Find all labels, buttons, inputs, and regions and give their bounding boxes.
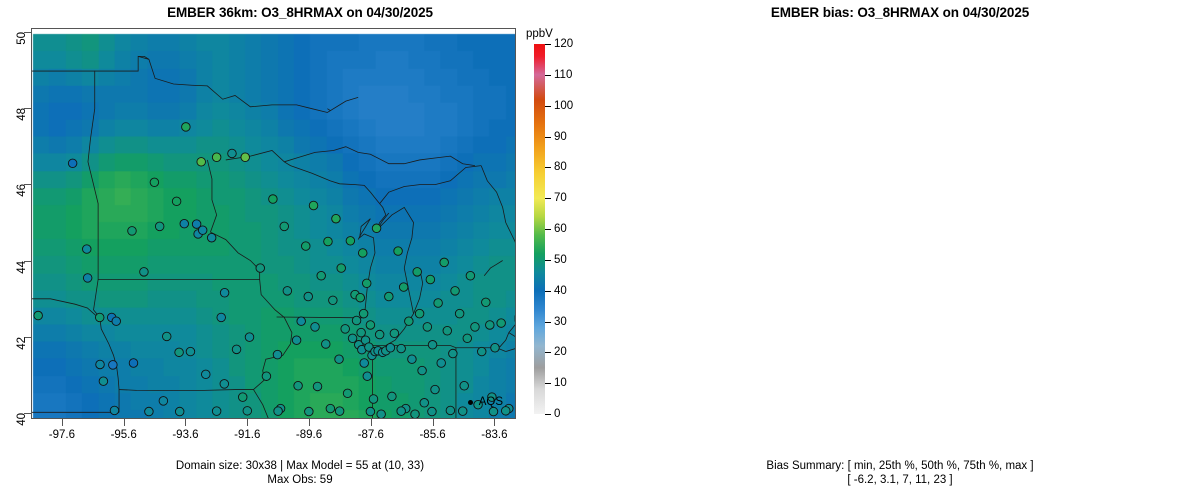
station-marker[interactable] [324,237,333,246]
station-marker[interactable] [243,407,252,416]
x-axis-tick [309,419,310,426]
station-marker[interactable] [201,370,210,379]
station-marker[interactable] [186,347,195,356]
station-marker[interactable] [497,319,506,328]
model-colorbar-strip [534,44,545,414]
station-marker[interactable] [34,311,43,320]
colorbar-tick [545,229,551,230]
station-marker[interactable] [375,330,384,339]
y-axis-tick-label: 48 [16,108,28,121]
station-marker[interactable] [220,288,229,297]
station-marker[interactable] [95,313,104,322]
station-marker[interactable] [212,153,221,162]
station-marker[interactable] [431,385,440,394]
station-marker[interactable] [437,359,446,368]
station-marker[interactable] [292,336,301,345]
x-axis-tick-label: -91.6 [234,429,260,441]
station-marker[interactable] [212,407,221,416]
x-axis-tick-label: -87.6 [358,429,384,441]
station-marker[interactable] [377,410,386,418]
station-marker[interactable] [140,268,149,277]
station-marker[interactable] [182,123,191,132]
model-x-axis: -97.6-95.6-93.6-91.6-89.6-87.6-85.6-83.6 [31,419,516,449]
x-axis-tick-label: -89.6 [296,429,322,441]
x-axis-tick [371,419,372,426]
bias-caption: Bias Summary: [ min, 25th %, 50th %, 75t… [600,459,1200,487]
model-station-points[interactable] [32,29,515,418]
station-marker[interactable] [232,345,241,354]
station-marker[interactable] [175,348,184,357]
station-marker[interactable] [269,195,278,204]
colorbar-tick-label: 100 [554,100,573,112]
colorbar-tick-label: 50 [554,254,567,266]
station-marker[interactable] [413,268,422,277]
station-marker[interactable] [359,309,368,318]
station-marker[interactable] [423,323,432,332]
x-axis-tick-label: -95.6 [111,429,137,441]
station-marker[interactable] [220,380,229,389]
station-marker[interactable] [385,292,394,301]
station-marker[interactable] [83,274,92,283]
y-axis-tick-label: 46 [16,184,28,197]
station-marker[interactable] [458,407,467,416]
station-marker[interactable] [477,347,486,356]
station-marker[interactable] [455,309,464,318]
colorbar-tick [545,383,551,384]
station-marker[interactable] [405,317,414,326]
model-caption-line2: Max Obs: 59 [0,473,600,487]
colorbar-tick-label: 90 [554,131,567,143]
station-marker[interactable] [283,287,292,296]
colorbar-tick [545,260,551,261]
colorbar-tick [545,137,551,138]
station-marker[interactable] [446,406,455,415]
station-marker[interactable] [262,372,271,381]
station-marker[interactable] [332,214,341,223]
colorbar-tick-label: 110 [554,69,572,81]
panel-bias: EMBER bias: O3_8HRMAX on 04/30/2025 AQS … [600,0,1200,502]
station-marker[interactable] [294,381,303,390]
colorbar-tick [545,167,551,168]
station-marker[interactable] [241,153,250,162]
station-marker[interactable] [363,372,372,381]
station-marker[interactable] [451,287,460,296]
station-marker[interactable] [489,407,498,416]
x-axis-tick-label: -85.6 [419,429,445,441]
station-marker[interactable] [366,407,375,416]
station-marker[interactable] [145,407,154,416]
station-marker[interactable] [428,407,437,416]
y-axis-tick-label: 40 [16,413,28,426]
model-caption-line1: Domain size: 30x38 | Max Model = 55 at (… [0,459,600,473]
station-marker[interactable] [357,328,366,337]
station-marker[interactable] [228,149,237,158]
station-marker[interactable] [245,333,254,342]
station-marker[interactable] [471,323,480,332]
colorbar-tick [545,352,551,353]
station-marker[interactable] [180,219,189,228]
colorbar-tick [545,322,551,323]
colorbar-tick-label: 10 [554,377,567,389]
station-marker[interactable] [317,271,326,280]
aqs-dot-icon [468,400,473,405]
station-marker[interactable] [238,393,247,402]
station-marker[interactable] [369,395,378,404]
station-marker[interactable] [360,359,369,368]
bias-caption-line1: Bias Summary: [ min, 25th %, 50th %, 75t… [600,459,1200,473]
station-marker[interactable] [460,381,469,390]
x-axis-tick [494,419,495,426]
station-marker[interactable] [411,410,420,418]
station-marker[interactable] [346,237,355,246]
model-aqs-legend: AQS [468,396,503,408]
station-marker[interactable] [399,283,408,292]
model-plot-area[interactable]: AQS [31,28,516,419]
y-axis-tick-label: 44 [16,261,28,274]
station-marker[interactable] [343,389,352,398]
station-marker[interactable] [491,343,500,352]
x-axis-tick [62,419,63,426]
station-marker[interactable] [96,360,105,369]
station-marker[interactable] [311,323,320,332]
colorbar-tick-label: 80 [554,161,567,173]
station-marker[interactable] [337,264,346,273]
station-marker[interactable] [418,366,427,375]
colorbar-tick [545,291,551,292]
station-marker[interactable] [128,227,137,236]
station-marker[interactable] [112,317,121,326]
station-marker[interactable] [197,158,206,167]
station-marker[interactable] [129,359,138,368]
station-marker[interactable] [155,222,164,231]
station-marker[interactable] [110,406,119,415]
station-marker[interactable] [335,407,344,416]
station-marker[interactable] [366,321,375,330]
bias-caption-line2: [ -6.2, 3.1, 7, 11, 23 ] [600,473,1200,487]
station-marker[interactable] [217,313,226,322]
station-marker[interactable] [434,299,443,308]
station-marker[interactable] [175,407,184,416]
y-axis-tick-label: 42 [16,337,28,350]
station-marker[interactable] [443,326,452,335]
station-marker[interactable] [428,340,437,349]
colorbar-tick-label: 30 [554,316,567,328]
station-marker[interactable] [341,325,350,334]
station-marker[interactable] [82,245,91,254]
station-marker[interactable] [372,224,381,233]
station-marker[interactable] [172,197,181,206]
station-marker[interactable] [150,178,159,187]
colorbar-tick [545,44,551,45]
x-axis-tick [185,419,186,426]
panel-model: EMBER 36km: O3_8HRMAX on 04/30/2025 AQS … [0,0,600,502]
model-y-axis: 404244464850 [0,28,31,419]
station-marker[interactable] [335,355,344,364]
station-marker[interactable] [466,271,475,280]
panel-bias-title: EMBER bias: O3_8HRMAX on 04/30/2025 [600,5,1200,20]
x-axis-tick-label: -97.6 [49,429,75,441]
colorbar-tick [545,75,551,76]
model-aqs-legend-label: AQS [479,396,503,408]
colorbar-tick [545,414,551,415]
colorbar-tick-label: 20 [554,346,567,358]
station-marker[interactable] [99,377,108,386]
station-marker[interactable] [322,340,331,349]
station-marker[interactable] [297,317,306,326]
model-caption: Domain size: 30x38 | Max Model = 55 at (… [0,459,600,487]
colorbar-tick [545,198,551,199]
station-marker[interactable] [408,355,417,364]
colorbar-tick-label: 70 [554,192,567,204]
station-marker[interactable] [68,159,77,168]
colorbar-tick-label: 40 [554,285,567,297]
panel-model-title: EMBER 36km: O3_8HRMAX on 04/30/2025 [0,5,600,20]
y-axis-tick-label: 50 [16,32,28,45]
station-marker[interactable] [304,292,313,301]
station-marker[interactable] [301,242,310,251]
x-axis-tick-label: -93.6 [172,429,198,441]
station-marker[interactable] [482,298,491,307]
station-marker[interactable] [207,233,216,242]
station-marker[interactable] [313,382,322,391]
station-marker[interactable] [280,222,289,231]
station-marker[interactable] [449,349,458,358]
station-marker[interactable] [390,329,399,338]
station-marker[interactable] [356,293,365,302]
station-marker[interactable] [426,275,435,284]
figure-root: EMBER 36km: O3_8HRMAX on 04/30/2025 AQS … [0,0,1200,502]
station-marker[interactable] [329,296,338,305]
station-marker[interactable] [109,361,118,370]
station-marker[interactable] [397,344,406,353]
station-marker[interactable] [305,407,314,416]
station-marker[interactable] [415,309,424,318]
station-marker[interactable] [388,392,397,401]
x-axis-tick-label: -83.6 [481,429,507,441]
station-marker[interactable] [198,226,207,235]
colorbar-tick-label: 120 [554,38,573,50]
station-marker[interactable] [362,279,371,288]
station-marker[interactable] [274,407,283,416]
x-axis-tick [247,419,248,426]
station-marker[interactable] [486,321,495,330]
colorbar-tick-label: 60 [554,223,567,235]
station-marker[interactable] [352,316,361,325]
x-axis-tick [124,419,125,426]
station-marker[interactable] [256,264,265,273]
model-colorbar: ppbV 0102030405060708090100110120 [524,28,600,419]
x-axis-tick [433,419,434,426]
station-marker[interactable] [463,334,472,343]
station-marker[interactable] [159,397,168,406]
colorbar-tick-label: 0 [554,408,560,420]
station-marker[interactable] [397,407,406,416]
model-colorbar-unit: ppbV [526,28,553,40]
station-marker[interactable] [440,258,449,267]
station-marker[interactable] [273,350,282,359]
station-marker[interactable] [162,332,171,341]
station-marker[interactable] [309,201,318,210]
station-marker[interactable] [358,249,367,258]
station-marker[interactable] [420,399,429,408]
station-marker[interactable] [386,343,395,352]
station-marker[interactable] [326,404,335,413]
station-marker[interactable] [394,247,403,256]
colorbar-tick [545,106,551,107]
